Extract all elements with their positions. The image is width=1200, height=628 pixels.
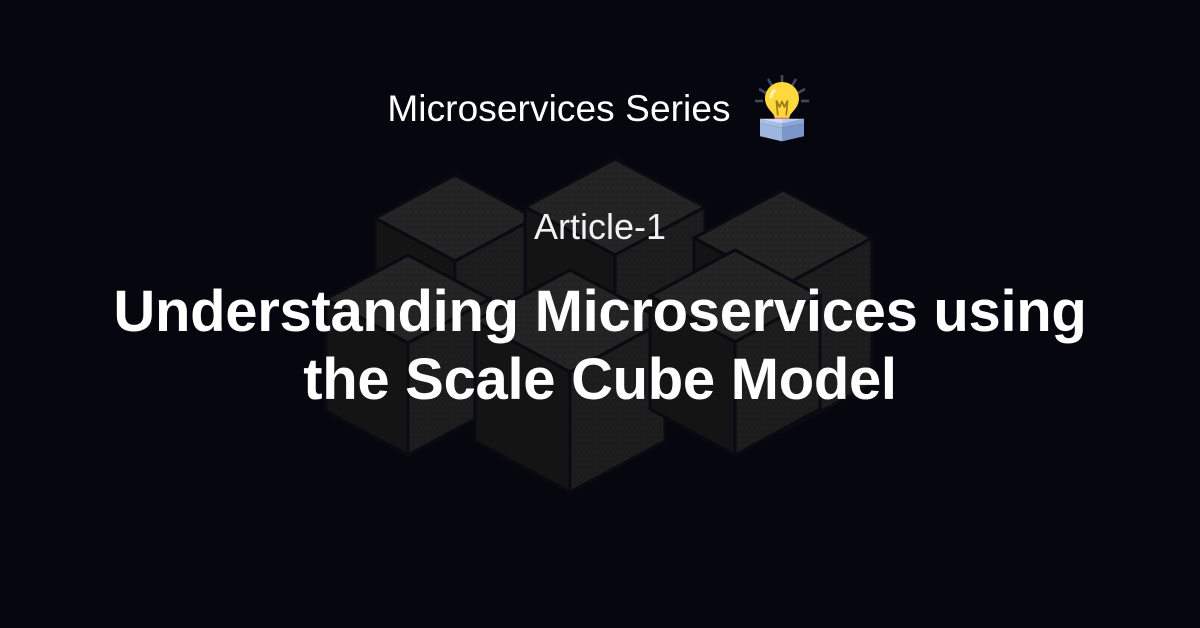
page-title: Understanding Microservices using the Sc… [0,278,1200,415]
series-header: Microservices Series [0,74,1200,142]
lightbulb-in-box-icon [751,74,813,142]
title-line-1: Understanding Microservices using [60,278,1140,346]
article-number: Article-1 [0,206,1200,247]
article-cover-card: Microservices Series [0,0,1200,628]
series-label: Microservices Series [387,90,730,127]
title-line-2: the Scale Cube Model [60,346,1140,414]
